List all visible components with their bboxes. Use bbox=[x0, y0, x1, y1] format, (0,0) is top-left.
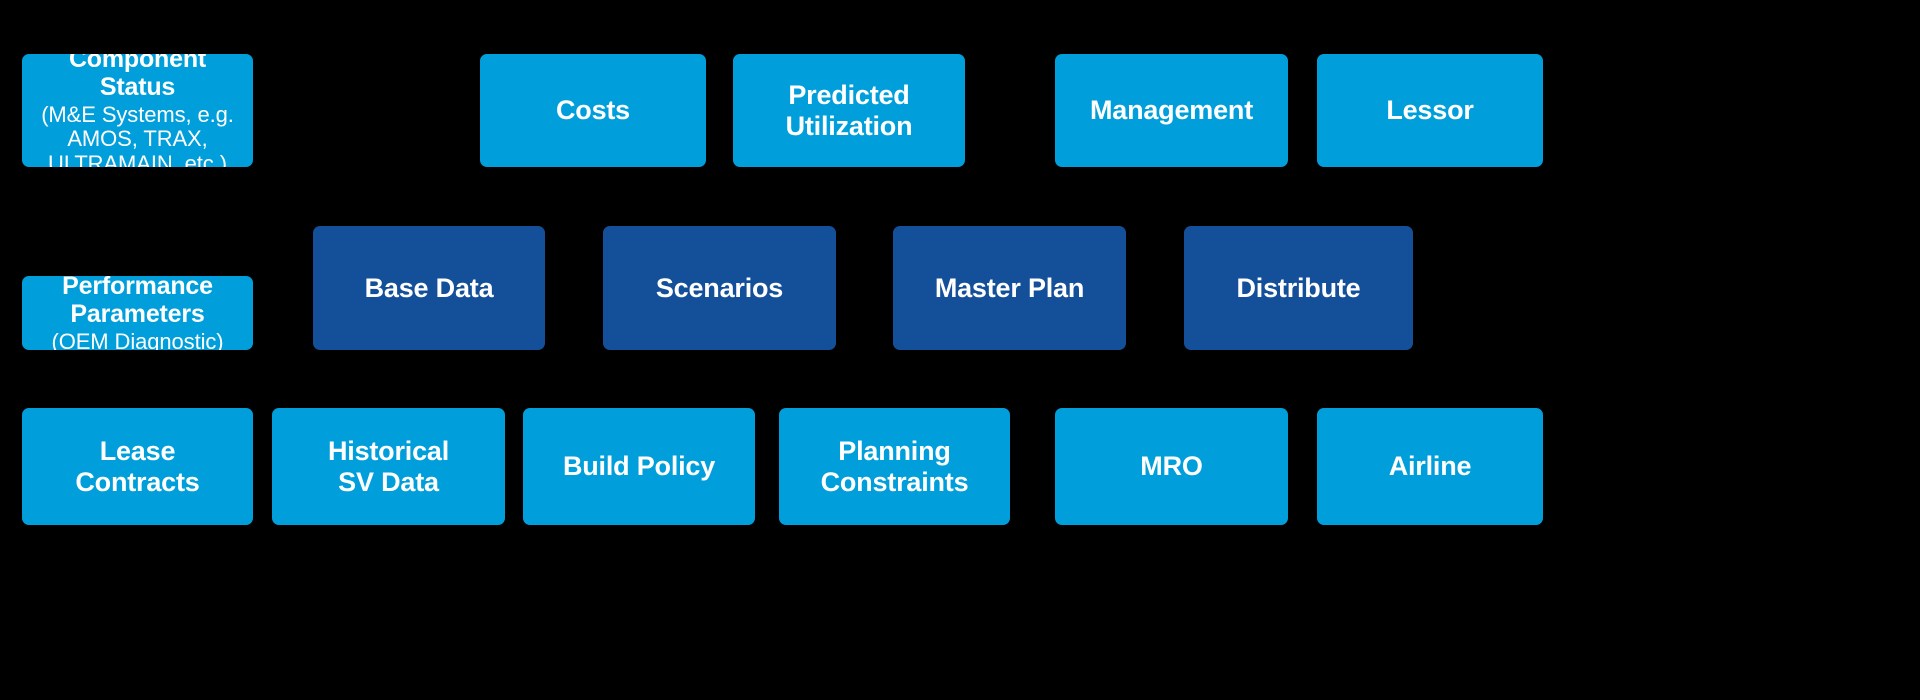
node-airline[interactable]: Airline bbox=[1317, 408, 1543, 525]
node-title: Build Policy bbox=[563, 451, 715, 481]
node-title: Lease Contracts bbox=[75, 436, 199, 496]
node-base-data[interactable]: Base Data bbox=[313, 226, 545, 350]
node-title: Lessor bbox=[1386, 95, 1473, 125]
node-build-policy[interactable]: Build Policy bbox=[523, 408, 755, 525]
node-master-plan[interactable]: Master Plan bbox=[893, 226, 1126, 350]
node-title: Distribute bbox=[1236, 273, 1360, 303]
node-component-status[interactable]: Component Status (M&E Systems, e.g. AMOS… bbox=[22, 54, 253, 167]
node-costs[interactable]: Costs bbox=[480, 54, 706, 167]
node-lease-contracts[interactable]: Lease Contracts bbox=[22, 408, 253, 525]
node-distribute[interactable]: Distribute bbox=[1184, 226, 1413, 350]
node-title: Management bbox=[1090, 95, 1253, 125]
node-planning-constraints[interactable]: Planning Constraints bbox=[779, 408, 1010, 525]
node-historical-sv-data[interactable]: Historical SV Data bbox=[272, 408, 505, 525]
node-performance-parameters[interactable]: Performance Parameters (OEM Diagnostic) bbox=[22, 276, 253, 350]
node-title: MRO bbox=[1140, 451, 1202, 481]
node-predicted-utilization[interactable]: Predicted Utilization bbox=[733, 54, 965, 167]
diagram-canvas: Component Status (M&E Systems, e.g. AMOS… bbox=[0, 0, 1920, 700]
node-title: Scenarios bbox=[656, 273, 783, 303]
node-title: Historical SV Data bbox=[328, 436, 449, 496]
node-title: Planning Constraints bbox=[821, 436, 969, 496]
node-title: Component Status bbox=[30, 54, 245, 101]
node-title: Performance Parameters bbox=[62, 276, 213, 328]
node-subtitle: (M&E Systems, e.g. AMOS, TRAX, ULTRAMAIN… bbox=[41, 103, 234, 167]
node-mro[interactable]: MRO bbox=[1055, 408, 1288, 525]
node-title: Airline bbox=[1389, 451, 1472, 481]
node-scenarios[interactable]: Scenarios bbox=[603, 226, 836, 350]
node-management[interactable]: Management bbox=[1055, 54, 1288, 167]
node-title: Costs bbox=[556, 95, 630, 125]
node-title: Predicted Utilization bbox=[786, 80, 913, 140]
node-title: Master Plan bbox=[935, 273, 1084, 303]
node-lessor[interactable]: Lessor bbox=[1317, 54, 1543, 167]
node-subtitle: (OEM Diagnostic) bbox=[52, 330, 224, 350]
node-title: Base Data bbox=[365, 273, 494, 303]
